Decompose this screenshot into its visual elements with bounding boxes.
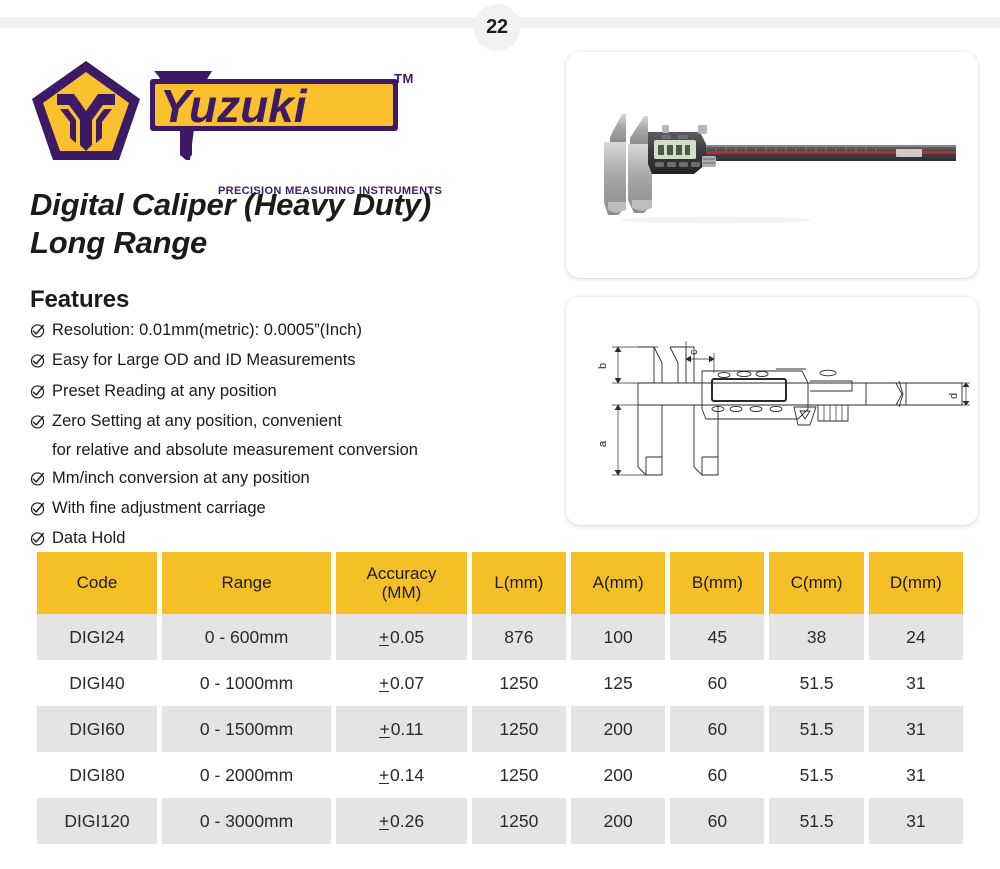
accuracy-value: 0.11 bbox=[391, 719, 424, 739]
specifications-table: Code Range Accuracy (MM) L(mm) A(mm) B(m… bbox=[32, 552, 968, 844]
product-title-line1: Digital Caliper (Heavy Duty) bbox=[30, 187, 431, 222]
cell-accuracy: +0.05 bbox=[336, 614, 467, 660]
feature-text-continuation: for relative and absolute measurement co… bbox=[30, 442, 560, 459]
cell-d: 31 bbox=[869, 752, 963, 798]
plus-minus-symbol: + bbox=[379, 767, 389, 784]
dimension-label-a: a bbox=[597, 440, 609, 447]
feature-text: With fine adjustment carriage bbox=[52, 500, 560, 517]
cell-accuracy: +0.26 bbox=[336, 798, 467, 844]
accuracy-value: 0.07 bbox=[390, 673, 424, 693]
feature-text: Zero Setting at any position, convenient bbox=[52, 413, 560, 430]
plus-minus-symbol: + bbox=[379, 813, 389, 830]
cell-code: DIGI60 bbox=[37, 706, 157, 752]
cell-l: 1250 bbox=[472, 706, 566, 752]
circled-check-icon bbox=[30, 501, 47, 520]
column-header-c: C(mm) bbox=[769, 552, 863, 614]
trademark-symbol: TM bbox=[394, 71, 414, 86]
cell-d: 31 bbox=[869, 798, 963, 844]
table-row: DIGI120 0 - 3000mm +0.26 1250 200 60 51.… bbox=[37, 798, 963, 844]
cell-c: 51.5 bbox=[769, 798, 863, 844]
cell-accuracy: +0.11 bbox=[336, 706, 467, 752]
product-title-line2: Long Range bbox=[30, 225, 207, 260]
feature-text: Resolution: 0.01mm(metric): 0.0005”(Inch… bbox=[52, 322, 560, 339]
cell-b: 60 bbox=[670, 706, 764, 752]
dimension-label-b: b bbox=[597, 363, 609, 369]
cell-range: 0 - 1000mm bbox=[162, 660, 331, 706]
plus-minus-symbol: + bbox=[379, 721, 389, 738]
column-header-l: L(mm) bbox=[472, 552, 566, 614]
page-title: Digital Caliper (Heavy Duty) Long Range bbox=[30, 186, 550, 262]
accuracy-value: 0.26 bbox=[390, 811, 424, 831]
yuzuki-wordmark: Yuzuki bbox=[148, 65, 428, 160]
product-photo-digital-caliper bbox=[566, 52, 978, 278]
table-row: DIGI24 0 - 600mm +0.05 876 100 45 38 24 bbox=[37, 614, 963, 660]
technical-drawing-digital-caliper: b a c d bbox=[566, 297, 978, 525]
list-item: Data Hold bbox=[30, 530, 560, 549]
svg-text:Yuzuki: Yuzuki bbox=[160, 80, 308, 132]
cell-range: 0 - 3000mm bbox=[162, 798, 331, 844]
cell-a: 200 bbox=[571, 706, 665, 752]
cell-b: 60 bbox=[670, 660, 764, 706]
cell-accuracy: +0.07 bbox=[336, 660, 467, 706]
list-item: Mm/inch conversion at any position bbox=[30, 470, 560, 489]
dimension-label-c: c bbox=[688, 349, 700, 355]
column-header-accuracy-line2: (MM) bbox=[382, 583, 422, 602]
cell-a: 200 bbox=[571, 752, 665, 798]
table-header-row: Code Range Accuracy (MM) L(mm) A(mm) B(m… bbox=[37, 552, 963, 614]
column-header-code: Code bbox=[37, 552, 157, 614]
cell-b: 45 bbox=[670, 614, 764, 660]
cell-l: 1250 bbox=[472, 660, 566, 706]
feature-text: Easy for Large OD and ID Measurements bbox=[52, 352, 560, 369]
cell-c: 51.5 bbox=[769, 706, 863, 752]
cell-range: 0 - 2000mm bbox=[162, 752, 331, 798]
table-row: DIGI80 0 - 2000mm +0.14 1250 200 60 51.5… bbox=[37, 752, 963, 798]
column-header-a: A(mm) bbox=[571, 552, 665, 614]
accuracy-value: 0.14 bbox=[390, 765, 424, 785]
list-item: Preset Reading at any position bbox=[30, 383, 560, 402]
cell-code: DIGI120 bbox=[37, 798, 157, 844]
list-item: Zero Setting at any position, convenient… bbox=[30, 413, 560, 459]
circled-check-icon bbox=[30, 323, 47, 342]
cell-a: 200 bbox=[571, 798, 665, 844]
plus-minus-symbol: + bbox=[379, 675, 389, 692]
column-header-accuracy-line1: Accuracy bbox=[367, 564, 437, 583]
cell-code: DIGI40 bbox=[37, 660, 157, 706]
feature-text: Mm/inch conversion at any position bbox=[52, 470, 560, 487]
cell-accuracy: +0.14 bbox=[336, 752, 467, 798]
column-header-range: Range bbox=[162, 552, 331, 614]
column-header-accuracy: Accuracy (MM) bbox=[336, 552, 467, 614]
column-header-d: D(mm) bbox=[869, 552, 963, 614]
list-item: Resolution: 0.01mm(metric): 0.0005”(Inch… bbox=[30, 322, 560, 341]
table-row: DIGI60 0 - 1500mm +0.11 1250 200 60 51.5… bbox=[37, 706, 963, 752]
column-header-b: B(mm) bbox=[670, 552, 764, 614]
brand-logo: Yuzuki TM PRECISION MEASURING INSTRUMENT… bbox=[30, 57, 430, 162]
cell-range: 0 - 600mm bbox=[162, 614, 331, 660]
feature-text: Preset Reading at any position bbox=[52, 383, 560, 400]
cell-code: DIGI24 bbox=[37, 614, 157, 660]
cell-a: 100 bbox=[571, 614, 665, 660]
cell-c: 38 bbox=[769, 614, 863, 660]
list-item: With fine adjustment carriage bbox=[30, 500, 560, 519]
cell-b: 60 bbox=[670, 798, 764, 844]
cell-d: 31 bbox=[869, 660, 963, 706]
product-photo-card bbox=[566, 52, 978, 278]
cell-code: DIGI80 bbox=[37, 752, 157, 798]
catalog-page: 22 bbox=[0, 0, 1000, 869]
circled-check-icon bbox=[30, 471, 47, 490]
dimension-label-d: d bbox=[948, 393, 960, 399]
cell-l: 876 bbox=[472, 614, 566, 660]
technical-drawing-card: b a c d bbox=[566, 297, 978, 525]
cell-d: 31 bbox=[869, 706, 963, 752]
table-row: DIGI40 0 - 1000mm +0.07 1250 125 60 51.5… bbox=[37, 660, 963, 706]
cell-l: 1250 bbox=[472, 798, 566, 844]
accuracy-value: 0.05 bbox=[390, 627, 424, 647]
cell-l: 1250 bbox=[472, 752, 566, 798]
circled-check-icon bbox=[30, 384, 47, 403]
cell-c: 51.5 bbox=[769, 660, 863, 706]
features-heading: Features bbox=[30, 286, 129, 314]
page-number-badge: 22 bbox=[474, 4, 521, 51]
cell-c: 51.5 bbox=[769, 752, 863, 798]
plus-minus-symbol: + bbox=[379, 629, 389, 646]
cell-d: 24 bbox=[869, 614, 963, 660]
cell-b: 60 bbox=[670, 752, 764, 798]
yuzuki-pentagon-emblem bbox=[30, 59, 142, 162]
circled-check-icon bbox=[30, 353, 47, 372]
feature-text: Data Hold bbox=[52, 530, 560, 547]
circled-check-icon bbox=[30, 531, 47, 550]
circled-check-icon bbox=[30, 414, 47, 433]
cell-range: 0 - 1500mm bbox=[162, 706, 331, 752]
list-item: Easy for Large OD and ID Measurements bbox=[30, 352, 560, 371]
features-list: Resolution: 0.01mm(metric): 0.0005”(Inch… bbox=[30, 322, 560, 561]
cell-a: 125 bbox=[571, 660, 665, 706]
